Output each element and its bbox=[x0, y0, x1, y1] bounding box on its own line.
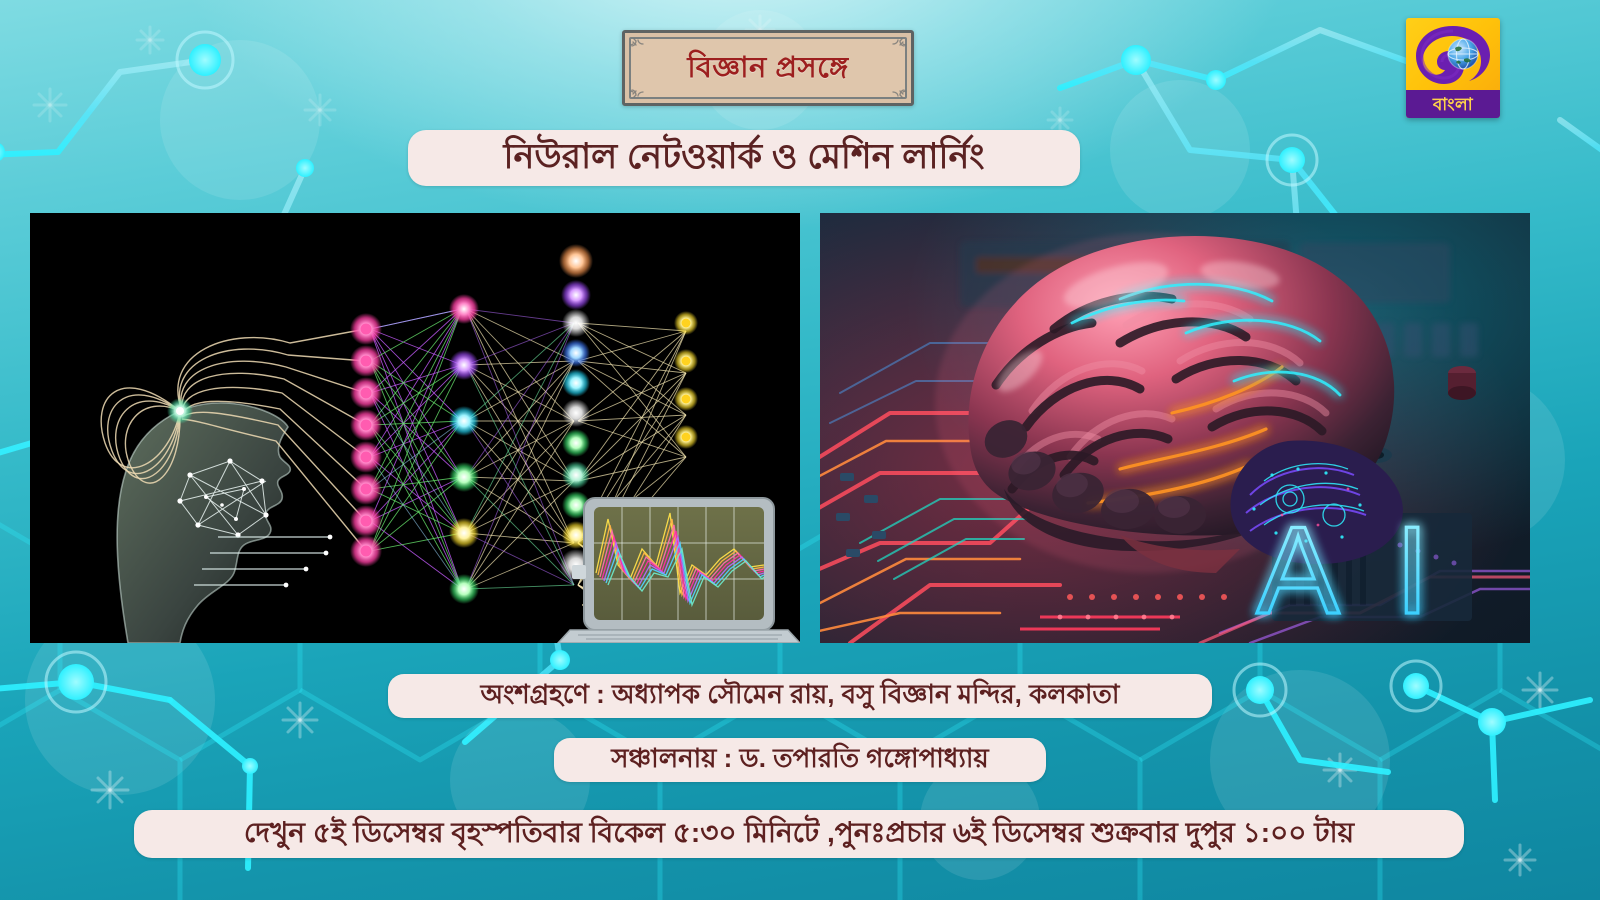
broadcast-schedule: দেখুন ৫ই ডিসেম্বর বৃহস্পতিবার বিকেল ৫:৩০… bbox=[134, 810, 1464, 858]
brain-circuit-image: A I A I bbox=[820, 213, 1530, 643]
guest-credit: অংশগ্রহণে : অধ্যাপক সৌমেন রায়, বসু বিজ্… bbox=[388, 674, 1212, 718]
ornament-corner-icon bbox=[630, 38, 646, 54]
channel-name: বাংলা bbox=[1433, 96, 1473, 113]
page-title: নিউরাল নেটওয়ার্ক ও মেশিন লার্নিং bbox=[408, 130, 1080, 186]
ornament-corner-icon bbox=[630, 82, 646, 98]
broadcast-promo-slide: বিজ্ঞান প্রসঙ্গে নিউরাল নেটওয়ার্ক ও মেশ… bbox=[0, 0, 1600, 900]
host-credit: সঞ্চালনায় : ড. তপারতি গঙ্গোপাধ্যায় bbox=[554, 738, 1046, 782]
channel-logo: বাংলা bbox=[1406, 18, 1500, 118]
laptop-waveform-chart bbox=[558, 498, 800, 643]
brain-on-circuit-illustration: A I bbox=[820, 213, 1530, 643]
neural-network-diagram bbox=[30, 213, 800, 643]
ornament-corner-icon bbox=[890, 38, 906, 54]
channel-name-band: বাংলা bbox=[1406, 90, 1500, 118]
series-banner: বিজ্ঞান প্রসঙ্গে bbox=[622, 30, 914, 106]
ai-text-glyphs: A I bbox=[1257, 502, 1444, 640]
ai-overlay-text: A I bbox=[1257, 502, 1444, 640]
neural-network-image bbox=[30, 213, 800, 643]
series-banner-text: বিজ্ঞান প্রসঙ্গে bbox=[687, 54, 848, 83]
ornament-corner-icon bbox=[890, 82, 906, 98]
dd-eye-globe-icon bbox=[1406, 18, 1500, 92]
